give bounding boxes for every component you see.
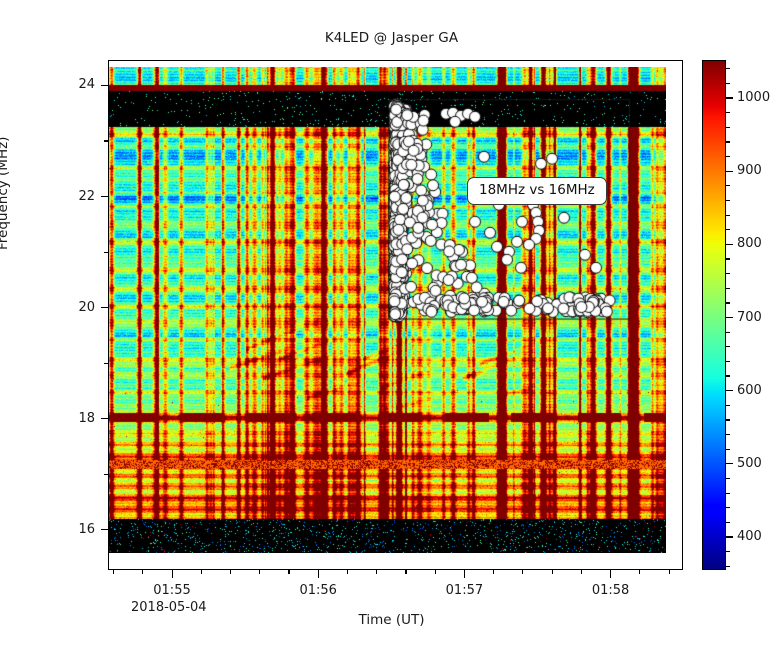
x-tick-label: 01:58: [566, 584, 656, 597]
colorbar-tick-major: [726, 536, 733, 537]
y-tick-major: [101, 529, 108, 530]
colorbar-tick-minor: [726, 185, 730, 186]
colorbar-tick-minor: [726, 566, 730, 567]
x-tick-minor: [230, 570, 231, 574]
colorbar-tick-minor: [726, 112, 730, 113]
colorbar-tick-minor: [726, 302, 730, 303]
x-tick-minor: [435, 570, 436, 574]
x-tick-minor: [347, 570, 348, 574]
x-tick-minor: [552, 570, 553, 574]
x-tick-minor: [201, 570, 202, 574]
y-tick-label: 24: [55, 78, 95, 91]
colorbar-tick-minor: [726, 200, 730, 201]
colorbar-tick-minor: [726, 83, 730, 84]
x-tick-minor: [669, 570, 670, 574]
x-tick-major: [464, 570, 465, 578]
x-axis-title: Time (UT): [0, 612, 783, 628]
colorbar[interactable]: [702, 60, 726, 570]
colorbar-tick-minor: [726, 288, 730, 289]
colorbar-tick-minor: [726, 361, 730, 362]
x-tick-minor: [639, 570, 640, 574]
colorbar-tick-minor: [726, 405, 730, 406]
y-tick-minor: [104, 363, 108, 364]
annotation-label: 18MHz vs 16MHz: [467, 177, 607, 205]
colorbar-tick-minor: [726, 273, 730, 274]
colorbar-tick-major: [726, 317, 733, 318]
x-tick-minor: [113, 570, 114, 574]
y-tick-label: 16: [55, 523, 95, 536]
colorbar-tick-major: [726, 171, 733, 172]
y-tick-label: 22: [55, 190, 95, 203]
y-tick-major: [101, 196, 108, 197]
colorbar-tick-minor: [726, 156, 730, 157]
colorbar-tick-minor: [726, 127, 730, 128]
x-tick-minor: [610, 570, 611, 574]
x-tick-major: [318, 570, 319, 578]
colorbar-tick-minor: [726, 522, 730, 523]
colorbar-tick-minor: [726, 229, 730, 230]
date-label: 2018-05-04: [131, 600, 207, 615]
y-tick-minor: [104, 140, 108, 141]
x-tick-label: 01:56: [273, 584, 363, 597]
x-tick-minor: [376, 570, 377, 574]
x-tick-minor: [288, 570, 289, 574]
scatter-overlay: [109, 61, 684, 571]
colorbar-tick-minor: [726, 332, 730, 333]
colorbar-tick-label: 500: [737, 457, 762, 470]
x-tick-label: 01:55: [127, 584, 217, 597]
x-tick-label: 01:57: [419, 584, 509, 597]
y-tick-major: [101, 85, 108, 86]
colorbar-tick-minor: [726, 215, 730, 216]
spectrogram-figure: K4LED @ Jasper GA 18MHz vs 16MHz Frequen…: [0, 0, 783, 656]
colorbar-tick-major: [726, 390, 733, 391]
x-tick-major: [172, 570, 173, 578]
page-title: K4LED @ Jasper GA: [0, 30, 783, 46]
x-tick-minor: [522, 570, 523, 574]
y-tick-minor: [104, 252, 108, 253]
y-axis-title: Frequency (MHz): [0, 137, 11, 250]
colorbar-tick-minor: [726, 419, 730, 420]
colorbar-tick-label: 600: [737, 384, 762, 397]
y-tick-major: [101, 418, 108, 419]
colorbar-tick-minor: [726, 507, 730, 508]
colorbar-tick-minor: [726, 375, 730, 376]
x-tick-minor: [405, 570, 406, 574]
colorbar-tick-minor: [726, 449, 730, 450]
colorbar-gradient: [702, 60, 726, 570]
colorbar-tick-minor: [726, 551, 730, 552]
x-tick-minor: [259, 570, 260, 574]
colorbar-tick-minor: [726, 346, 730, 347]
x-tick-minor: [142, 570, 143, 574]
colorbar-tick-minor: [726, 434, 730, 435]
plot-axes[interactable]: 18MHz vs 16MHz: [108, 60, 683, 570]
colorbar-tick-minor: [726, 258, 730, 259]
colorbar-tick-minor: [726, 493, 730, 494]
colorbar-tick-label: 400: [737, 530, 762, 543]
x-tick-minor: [581, 570, 582, 574]
colorbar-tick-minor: [726, 141, 730, 142]
colorbar-tick-minor: [726, 68, 730, 69]
colorbar-tick-major: [726, 244, 733, 245]
colorbar-tick-major: [726, 97, 733, 98]
x-tick-minor: [493, 570, 494, 574]
y-tick-label: 18: [55, 412, 95, 425]
colorbar-tick-major: [726, 463, 733, 464]
y-tick-minor: [104, 474, 108, 475]
colorbar-tick-minor: [726, 478, 730, 479]
colorbar-tick-label: 900: [737, 164, 762, 177]
colorbar-tick-label: 1000: [737, 91, 770, 104]
colorbar-tick-label: 800: [737, 237, 762, 250]
y-tick-label: 20: [55, 301, 95, 314]
y-tick-major: [101, 307, 108, 308]
colorbar-tick-label: 700: [737, 311, 762, 324]
